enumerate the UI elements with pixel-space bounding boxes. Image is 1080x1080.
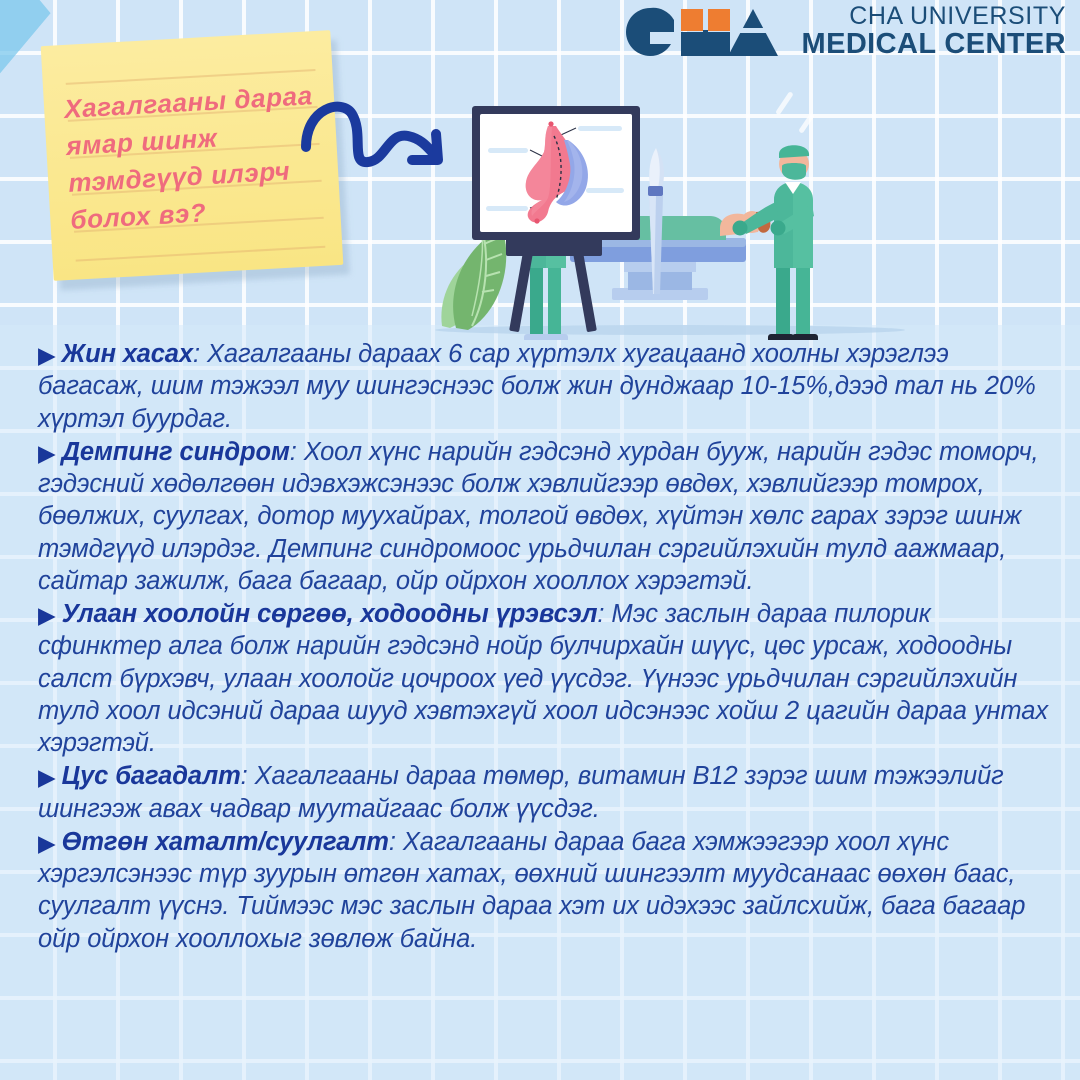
bullet-triangle-icon: ▶ bbox=[38, 439, 56, 468]
squiggly-arrow-icon bbox=[300, 92, 465, 177]
note-rule-line bbox=[76, 246, 325, 262]
section-separator: : bbox=[290, 438, 304, 466]
surgical-mask-icon bbox=[782, 163, 806, 180]
section-weight-loss: ▶Жин хасах: Хагалгааны дараах 6 сар хүрт… bbox=[38, 338, 1048, 435]
surgical-cap-icon bbox=[779, 145, 809, 158]
section-heading: Демпинг синдром bbox=[62, 438, 290, 466]
sticky-note-text: Хагалгааны дараа ямар шинж тэмдгүүд илэр… bbox=[63, 77, 331, 239]
brand-header: CHA UNIVERSITY MEDICAL CENTER bbox=[620, 4, 1066, 59]
section-constipation-diarrhea: ▶Өтгөн хаталт/суулгалт: Хагалгааны дараа… bbox=[38, 826, 1048, 955]
diagram-label-bar bbox=[578, 126, 622, 131]
brand-text: CHA UNIVERSITY MEDICAL CENTER bbox=[802, 4, 1066, 59]
section-separator: : bbox=[389, 828, 403, 856]
section-heading: Улаан хоолойн сөргөө, ходоодны үрэвсэл bbox=[62, 600, 598, 628]
brand-line-medical-center: MEDICAL CENTER bbox=[802, 30, 1066, 60]
leaf-plant bbox=[441, 228, 506, 330]
section-separator: : bbox=[597, 600, 611, 628]
gloved-hand-icon bbox=[771, 221, 786, 236]
diagram-label-bar bbox=[486, 206, 528, 211]
stomach-sleeve-diagram bbox=[472, 106, 640, 240]
brand-line-university: CHA UNIVERSITY bbox=[802, 4, 1066, 30]
diagram-label-bar bbox=[488, 148, 528, 153]
section-heading: Жин хасах bbox=[62, 340, 193, 368]
symptom-sections: ▶Жин хасах: Хагалгааны дараах 6 сар хүрт… bbox=[38, 338, 1048, 955]
gastric-surgery-illustration bbox=[420, 78, 940, 340]
cha-logo-icon bbox=[620, 6, 780, 58]
bullet-triangle-icon: ▶ bbox=[38, 763, 56, 792]
section-separator: : bbox=[241, 762, 255, 790]
section-reflux-gastritis: ▶Улаан хоолойн сөргөө, ходоодны үрэвсэл:… bbox=[38, 598, 1048, 759]
floor-shadow bbox=[435, 325, 905, 335]
section-heading: Өтгөн хаталт/суулгалт bbox=[62, 828, 389, 856]
diagram-label-bar bbox=[586, 188, 624, 193]
bullet-triangle-icon: ▶ bbox=[38, 601, 56, 630]
bullet-triangle-icon: ▶ bbox=[38, 341, 56, 370]
section-separator: : bbox=[193, 340, 207, 368]
section-heading: Цус багадалт bbox=[62, 762, 241, 790]
infographic-page: CHA UNIVERSITY MEDICAL CENTER Хагалгааны… bbox=[0, 0, 1080, 1080]
section-dumping-syndrome: ▶Демпинг синдром: Хоол хүнс нарийн гэдсэ… bbox=[38, 436, 1048, 597]
gloved-hand-icon bbox=[733, 221, 748, 236]
sticky-note: Хагалгааны дараа ямар шинж тэмдгүүд илэр… bbox=[41, 30, 344, 281]
section-anemia: ▶Цус багадалт: Хагалгааны дараа төмөр, в… bbox=[38, 760, 1048, 825]
bullet-triangle-icon: ▶ bbox=[38, 829, 56, 858]
light-streak-icon bbox=[775, 91, 815, 134]
